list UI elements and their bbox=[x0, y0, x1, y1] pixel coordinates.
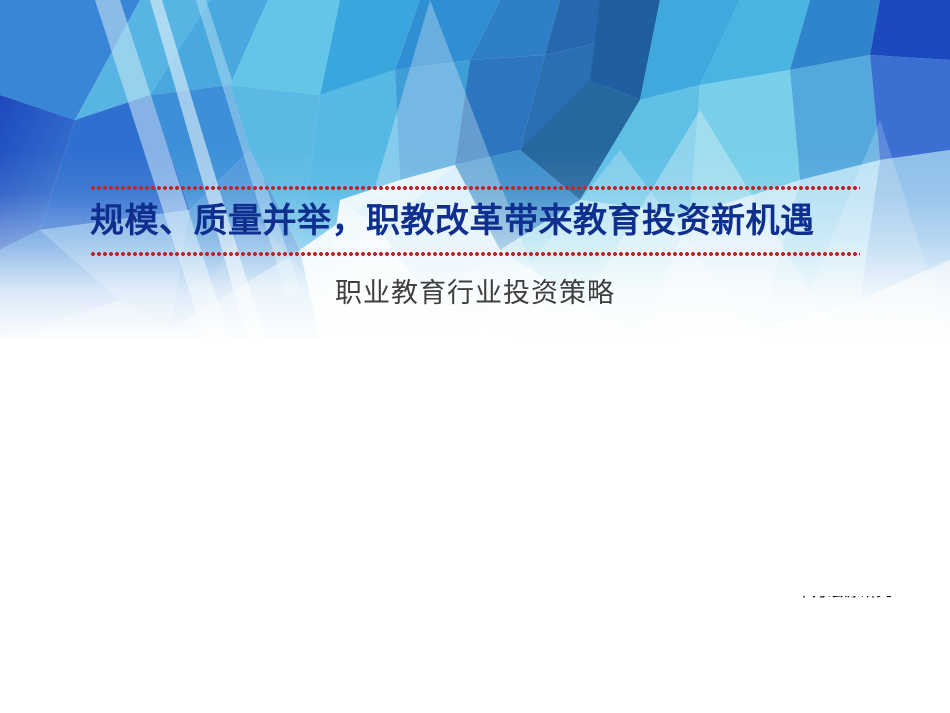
bottom-dotted-rule bbox=[90, 252, 860, 256]
sws-research-logo: 申万宏源研究 SWS RESEARCH bbox=[796, 596, 948, 704]
sws-mark-icon: 申万宏源研究 SWS RESEARCH bbox=[796, 596, 948, 704]
anniversary-30-logo: 30 bbox=[648, 592, 788, 704]
title-block: 规模、质量并举，职教改革带来教育投资新机遇 bbox=[90, 186, 860, 256]
sws-name-en: SWS RESEARCH bbox=[796, 596, 926, 600]
page-title: 规模、质量并举，职教改革带来教育投资新机遇 bbox=[90, 190, 860, 252]
footer-logo-group: 30 bbox=[648, 592, 950, 707]
anniversary-number: 30 bbox=[648, 592, 666, 596]
page-subtitle: 职业教育行业投资策略 bbox=[0, 272, 950, 316]
anniversary-30-icon: 30 bbox=[648, 592, 788, 704]
presentation-slide: 规模、质量并举，职教改革带来教育投资新机遇 职业教育行业投资策略 bbox=[0, 0, 950, 713]
